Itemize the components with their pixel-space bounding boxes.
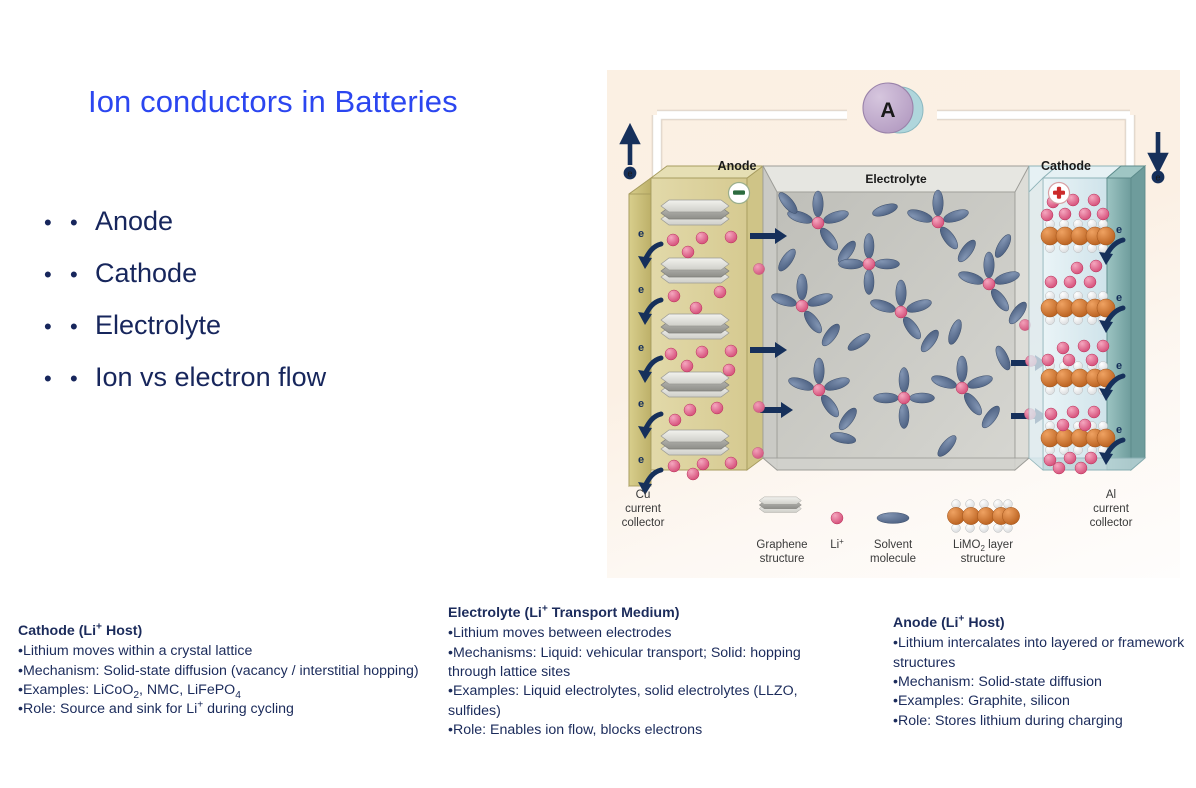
note-heading-post: Host) [102,623,142,639]
legend-label-line2: structure [961,553,1006,565]
note-line: •Lithium intercalates into layered or fr… [893,634,1193,673]
note-block-anode: Anode (Li+ Host) •Lithium intercalates i… [893,614,1193,731]
electron-label: e [627,169,632,179]
note-heading-pre: Electrolyte (Li [448,605,542,621]
caption-line: Cu [636,489,651,501]
note-line: •Examples: Liquid electrolytes, solid el… [448,682,823,721]
note-heading: Electrolyte (Li+ Transport Medium) [448,604,823,623]
note-heading: Anode (Li+ Host) [893,614,1193,633]
solvent-molecule-icon [877,513,909,524]
electron-flow-right: e [1151,132,1165,183]
electrolyte-label: Electrolyte [865,172,927,186]
note-line: •Role: Enables ion flow, blocks electron… [448,721,823,740]
cathode-positive-sign [1049,183,1070,204]
caption-line: Al [1106,489,1116,501]
legend-item-limo2-layer: LiMO2 layer structure [947,500,1019,565]
caption-line: current [625,503,662,515]
cathode-assembly: e e e e Cathode [1029,159,1145,474]
electron-label: e [1116,424,1122,436]
anode-label: Anode [718,159,757,173]
legend-label-line1: Graphene [756,539,807,551]
note-line-role: •Role: Source and sink for Li+ during cy… [18,700,443,719]
electrolyte-assembly: Electrolyte [763,166,1030,470]
note-heading-post: Host) [964,615,1004,631]
note-block-cathode: Cathode (Li+ Host) •Lithium moves within… [18,622,443,720]
cu-collector-caption: Cu current collector [622,489,665,529]
figure-legend: Graphene structure Li+ Solvent molecule [756,497,1019,565]
note-line: •Lithium moves within a crystal lattice [18,642,443,661]
battery-schematic-figure: A e e [607,70,1180,578]
legend-label-line2: molecule [870,553,916,565]
list-item-label: Ion vs electron flow [95,362,326,393]
note-line: •Role: Stores lithium during charging [893,712,1193,731]
ammeter: A [863,83,923,133]
al-collector-caption: Al current collector [1090,489,1133,529]
list-item[interactable]: • • Anode [44,206,514,258]
electron-label: e [1116,224,1122,236]
caption-line: collector [1090,517,1133,529]
electron-label: e [638,284,644,296]
note-line: •Mechanism: Solid-state diffusion (vacan… [18,662,443,681]
electron-label: e [638,454,644,466]
bullet-list: • • Anode • • Cathode • • Electrolyte • … [44,206,514,414]
electron-label: e [1116,292,1122,304]
legend-label-line1: Solvent [874,539,913,551]
anode-negative-sign [729,183,750,204]
examples-pre: •Examples: LiCoO [18,682,133,698]
anode-assembly: e e e e e Anode [629,159,763,495]
list-item-label: Anode [95,206,173,237]
page-title: Ion conductors in Batteries [88,84,458,120]
cathode-label: Cathode [1041,159,1091,173]
electrolyte-body [777,192,1015,470]
electron-flow-left: e [623,128,637,179]
note-line: •Mechanism: Solid-state diffusion [893,673,1193,692]
legend-label-line1: LiMO2 layer [953,539,1013,553]
electron-label: e [1155,173,1160,183]
legend-item-graphene-structure: Graphene structure [756,497,807,565]
role-post: during cycling [203,701,294,717]
electron-label: e [638,398,644,410]
note-heading-pre: Cathode (Li [18,623,96,639]
list-item-label: Electrolyte [95,310,221,341]
legend-item-lithium-ion: Li+ [830,512,844,551]
examples-mid: , NMC, LiFePO [139,682,235,698]
note-line: •Mechanisms: Liquid: vehicular transport… [448,644,823,683]
electron-label: e [638,342,644,354]
ammeter-label: A [880,99,895,122]
legend-item-solvent-molecule: Solvent molecule [870,513,916,565]
note-block-electrolyte: Electrolyte (Li+ Transport Medium) •Lith… [448,604,823,740]
list-item[interactable]: • • Cathode [44,258,514,310]
note-heading-pre: Anode (Li [893,615,958,631]
legend-label-line1: Li+ [830,537,844,551]
electron-label: e [1116,360,1122,372]
legend-label-line2: structure [760,553,805,565]
list-item-label: Cathode [95,258,197,289]
electron-label: e [638,228,644,240]
examples-sub2: 4 [235,690,241,701]
note-line: •Examples: Graphite, silicon [893,692,1193,711]
note-line: •Lithium moves between electrodes [448,624,823,643]
note-heading: Cathode (Li+ Host) [18,622,443,641]
caption-line: collector [622,517,665,529]
list-item[interactable]: • • Ion vs electron flow [44,362,514,414]
role-pre: •Role: Source and sink for Li [18,701,197,717]
note-heading-post: Transport Medium) [548,605,680,621]
list-item[interactable]: • • Electrolyte [44,310,514,362]
note-line-examples: •Examples: LiCoO2, NMC, LiFePO4 [18,681,443,700]
lithium-ion-icon [831,512,843,524]
caption-line: current [1093,503,1130,515]
